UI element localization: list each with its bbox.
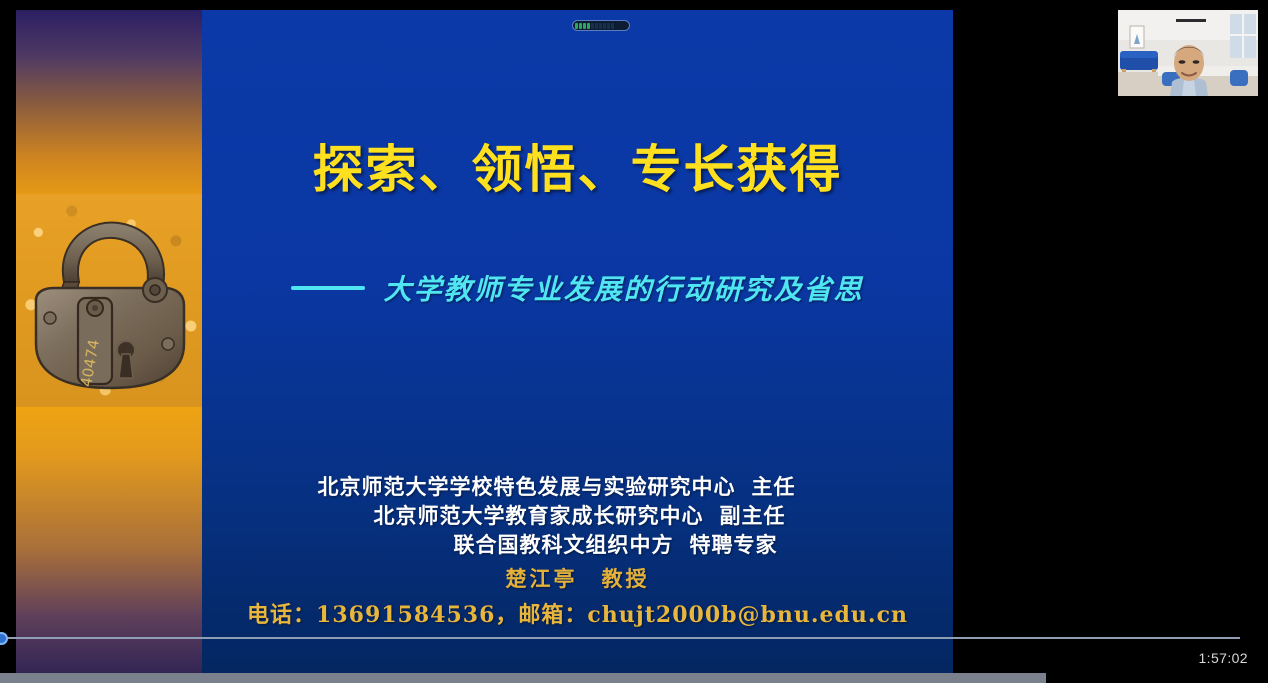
bottom-toolbar-strip (0, 673, 1046, 683)
slide-subtitle-text: 大学教师专业发展的行动研究及省思 (383, 268, 863, 308)
slide-main-title: 探索、领悟、专长获得 (202, 128, 953, 202)
affiliation-role: 特聘专家 (690, 530, 872, 559)
affiliation-org: 北京师范大学学校特色发展与实验研究中心 (284, 472, 736, 501)
affiliation-org: 北京师范大学教育家成长研究中心 (284, 501, 704, 530)
video-player-stage: 40474 探索、领悟、专长获得 大学教师专业发展的行动研究及省思 北京师范大学… (0, 0, 1268, 683)
affiliation-row: 北京师范大学教育家成长研究中心 副主任 (202, 501, 953, 530)
playback-scrubber-handle[interactable] (0, 632, 8, 645)
slide-subtitle-row: 大学教师专业发展的行动研究及省思 (202, 268, 953, 308)
presenter-credentials-block: 北京师范大学学校特色发展与实验研究中心 主任 北京师范大学教育家成长研究中心 副… (202, 472, 953, 629)
em-dash-rule (291, 286, 365, 290)
affiliation-row: 北京师范大学学校特色发展与实验研究中心 主任 (202, 472, 953, 501)
level-segment (575, 23, 578, 29)
level-segment (599, 23, 602, 29)
decorative-gradient-band: 40474 (16, 10, 202, 683)
affiliation-org: 联合国教科文组织中方 (284, 530, 674, 559)
level-segment (607, 23, 610, 29)
presenter-name: 楚江亭 教授 (202, 563, 953, 593)
level-segment (611, 23, 614, 29)
level-segment (587, 23, 590, 29)
playback-scrubber-track[interactable] (0, 637, 1240, 639)
affiliation-role: 主任 (752, 472, 872, 501)
audio-level-meter[interactable] (572, 20, 630, 31)
level-segment (583, 23, 586, 29)
affiliation-row: 联合国教科文组织中方 特聘专家 (202, 530, 953, 559)
open-padlock-icon: 40474 (16, 194, 202, 407)
level-segment (603, 23, 606, 29)
presentation-slide[interactable]: 40474 探索、领悟、专长获得 大学教师专业发展的行动研究及省思 北京师范大学… (16, 10, 953, 683)
level-segment (595, 23, 598, 29)
presenter-camera-overlay[interactable] (1110, 2, 1266, 102)
level-segment (579, 23, 582, 29)
level-segment (591, 23, 594, 29)
elapsed-time-label: 1:57:02 (1198, 650, 1248, 666)
presenter-contact: 电话：13691584536，邮箱：chujt2000b@bnu.edu.cn (202, 597, 953, 629)
affiliation-role: 副主任 (720, 501, 872, 530)
camera-video-frame (1118, 10, 1258, 96)
